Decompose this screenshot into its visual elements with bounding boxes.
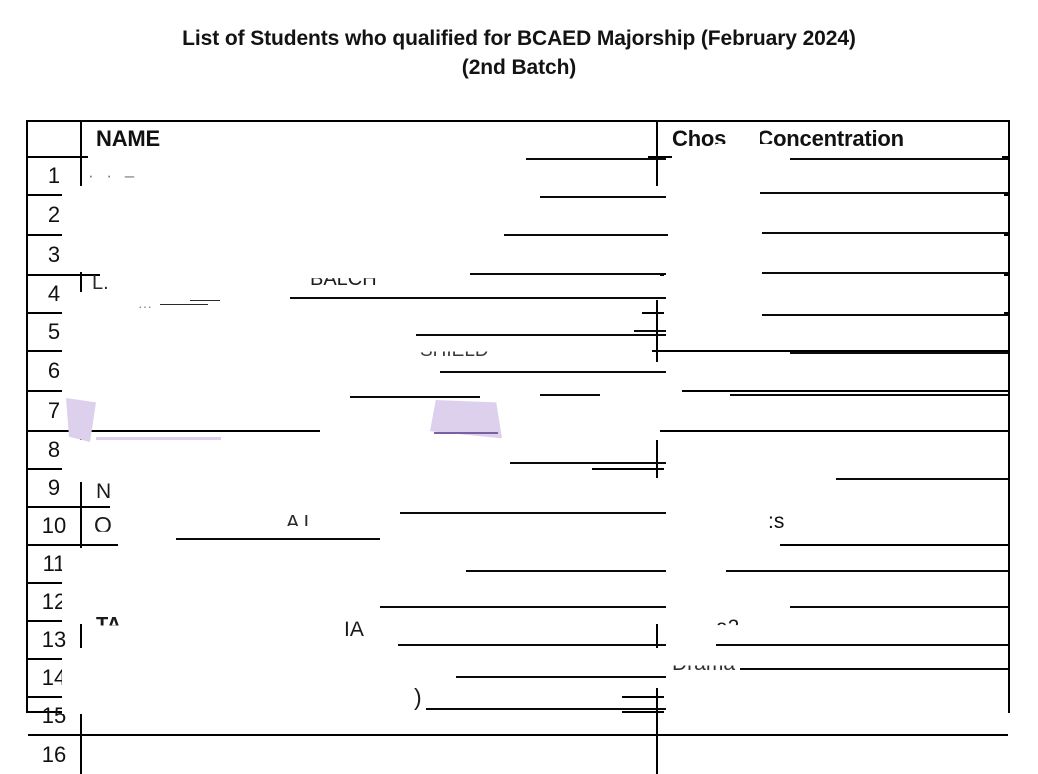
row-number: 9	[28, 470, 82, 506]
table-row: 11	[28, 546, 1008, 584]
table-row: 12	[28, 584, 1008, 622]
student-name-cell	[82, 736, 656, 774]
highlighted-student-name: DANIELLA N	[96, 437, 221, 464]
concentration-cell	[656, 698, 1008, 734]
concentration-cell	[656, 660, 1008, 696]
student-name-cell	[82, 584, 656, 620]
table-row: 16	[28, 736, 1008, 774]
student-name-cell	[82, 470, 656, 506]
student-name-cell	[82, 508, 656, 544]
row-number: 5	[28, 314, 82, 350]
row-number: 13	[28, 622, 82, 658]
table-row: 14	[28, 660, 1008, 698]
concentration-cell	[656, 546, 1008, 582]
table-row: 9	[28, 470, 1008, 508]
page-title-line-2: (2nd Batch)	[0, 53, 1038, 82]
table-row: 15	[28, 698, 1008, 736]
column-header-number	[28, 122, 82, 156]
student-name-cell	[82, 698, 656, 734]
row-number: 8	[28, 432, 82, 468]
table-row: 13	[28, 622, 1008, 660]
student-name-cell	[82, 352, 656, 390]
table-row: 6	[28, 352, 1008, 392]
column-header-name: NAME	[82, 122, 656, 156]
student-name-cell	[82, 158, 656, 194]
table-row: 1	[28, 158, 1008, 196]
concentration-cell	[656, 276, 1008, 312]
student-name-cell: DANIELLA N	[82, 432, 656, 468]
row-number: 15	[28, 698, 82, 734]
table-row: 8DANIELLA NMusic	[28, 432, 1008, 470]
row-number: 6	[28, 352, 82, 390]
table-row: 2	[28, 196, 1008, 236]
row-number: 1	[28, 158, 82, 194]
concentration-cell	[656, 470, 1008, 506]
row-number: 12	[28, 584, 82, 620]
row-number: 3	[28, 236, 82, 274]
table-row: 5	[28, 314, 1008, 352]
column-header-concentration: Chosen Concentration	[656, 122, 1008, 156]
concentration-cell	[656, 196, 1008, 234]
row-number: 10	[28, 508, 82, 544]
concentration-cell	[656, 736, 1008, 774]
row-number: 4	[28, 276, 82, 312]
student-name-cell	[82, 196, 656, 234]
student-name-cell	[82, 392, 656, 430]
table-row: 4	[28, 276, 1008, 314]
student-name-cell	[82, 236, 656, 274]
concentration-cell	[656, 622, 1008, 658]
concentration-cell	[656, 584, 1008, 620]
concentration-cell	[656, 392, 1008, 430]
row-number: 7	[28, 392, 82, 430]
page-title-line-1: List of Students who qualified for BCAED…	[0, 24, 1038, 53]
row-number: 14	[28, 660, 82, 696]
student-roster-table: NAME Chosen Concentration 12345678DANIEL…	[26, 120, 1010, 713]
concentration-cell	[656, 352, 1008, 390]
table-row: 3	[28, 236, 1008, 276]
concentration-cell	[656, 236, 1008, 274]
page-title: List of Students who qualified for BCAED…	[0, 24, 1038, 82]
concentration-cell	[656, 508, 1008, 544]
table-row: 7	[28, 392, 1008, 432]
row-number: 11	[28, 546, 82, 582]
student-name-cell	[82, 622, 656, 658]
concentration-cell	[656, 158, 1008, 194]
row-number: 2	[28, 196, 82, 234]
student-name-cell	[82, 660, 656, 696]
table-header-row: NAME Chosen Concentration	[28, 122, 1008, 158]
student-name-cell	[82, 546, 656, 582]
concentration-cell: Music	[656, 432, 1008, 468]
concentration-cell	[656, 314, 1008, 350]
student-name-cell	[82, 314, 656, 350]
table-row: 10	[28, 508, 1008, 546]
student-name-cell	[82, 276, 656, 312]
row-number: 16	[28, 736, 82, 774]
